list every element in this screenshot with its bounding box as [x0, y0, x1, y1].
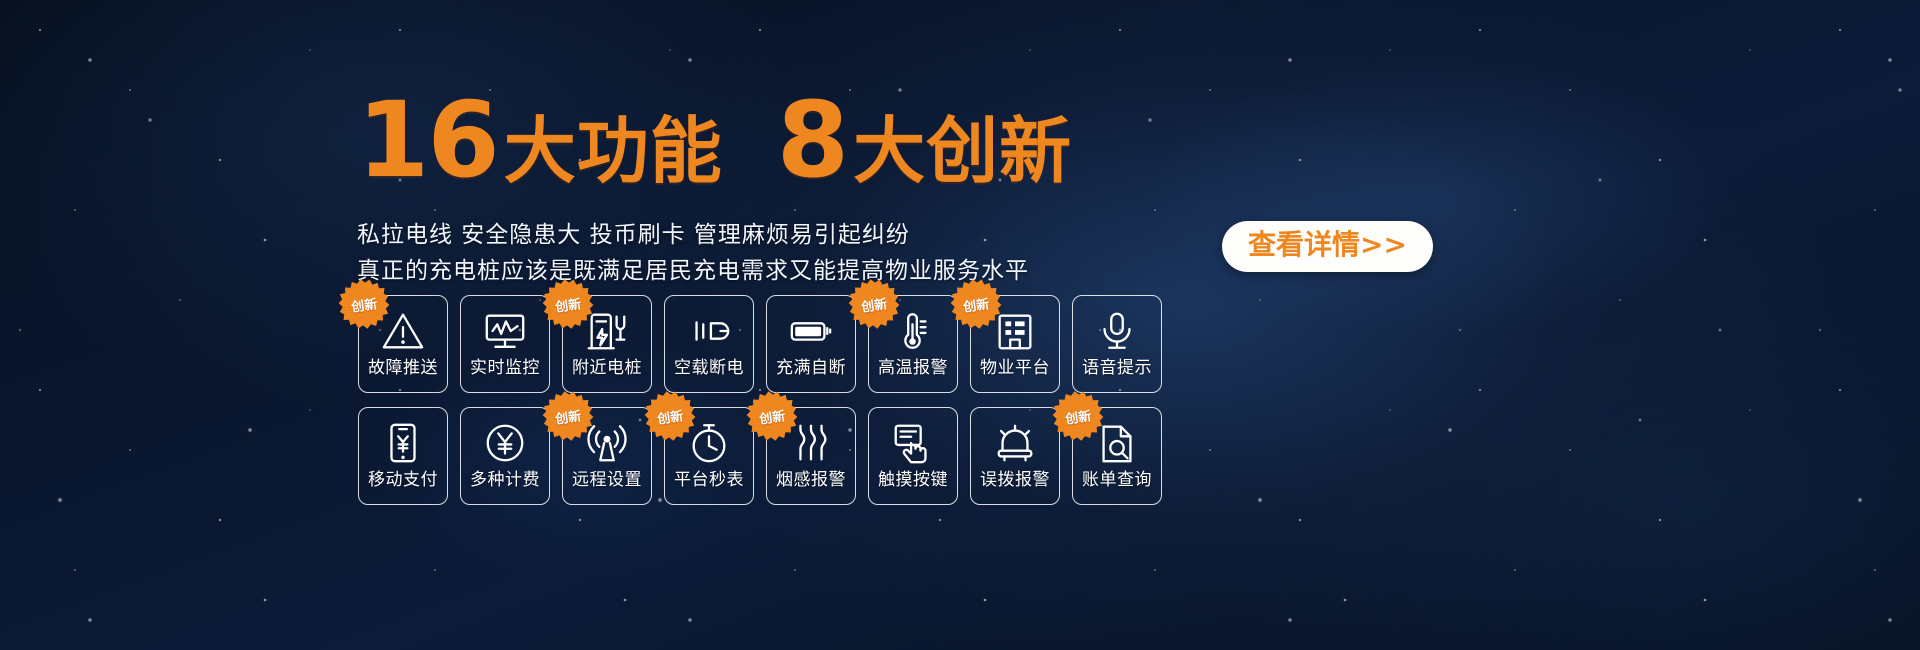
building-icon — [991, 307, 1039, 355]
feature-tile-空载断电[interactable]: 空载断电 — [664, 295, 754, 393]
mobile-payment-icon — [379, 419, 427, 467]
subtitle-line-2: 真正的充电桩应该是既满足居民充电需求又能提高物业服务水平 — [357, 254, 1257, 288]
feature-tile-烟感报警[interactable]: 创新烟感报警 — [766, 407, 856, 505]
hero-text-block: 16 大功能 8 大创新 私拉电线 安全隐患大 投币刷卡 管理麻烦易引起纠纷 真… — [357, 88, 1257, 288]
feature-tile-附近电桩[interactable]: 创新附近电桩 — [562, 295, 652, 393]
battery-full-icon — [787, 307, 835, 355]
promo-banner: 16 大功能 8 大创新 私拉电线 安全隐患大 投币刷卡 管理麻烦易引起纠纷 真… — [0, 0, 1920, 650]
feature-tile-多种计费[interactable]: 多种计费 — [460, 407, 550, 505]
feature-tile-label: 账单查询 — [1082, 471, 1152, 490]
feature-tile-账单查询[interactable]: 创新账单查询 — [1072, 407, 1162, 505]
feature-tile-label: 语音提示 — [1082, 359, 1152, 378]
microphone-icon — [1093, 307, 1141, 355]
headline-number-8: 8 — [777, 88, 847, 192]
touch-hand-icon — [889, 419, 937, 467]
thermometer-icon — [889, 307, 937, 355]
bill-search-icon — [1093, 419, 1141, 467]
feature-tile-label: 触摸按键 — [878, 471, 948, 490]
feature-grid: 创新故障推送实时监控创新附近电桩空载断电充满自断创新高温报警创新物业平台语音提示… — [358, 295, 1162, 505]
feature-tile-语音提示[interactable]: 语音提示 — [1072, 295, 1162, 393]
feature-tile-远程设置[interactable]: 创新远程设置 — [562, 407, 652, 505]
feature-tile-label: 空载断电 — [674, 359, 744, 378]
feature-tile-触摸按键[interactable]: 触摸按键 — [868, 407, 958, 505]
feature-row-2: 移动支付多种计费创新远程设置创新平台秒表创新烟感报警触摸按键误拨报警创新账单查询 — [358, 407, 1162, 505]
warning-triangle-icon — [379, 307, 427, 355]
feature-tile-label: 实时监控 — [470, 359, 540, 378]
plug-power-off-icon — [685, 307, 733, 355]
wireless-signal-icon — [583, 419, 631, 467]
headline-text-functions: 大功能 — [504, 115, 723, 187]
feature-tile-label: 故障推送 — [368, 359, 438, 378]
feature-tile-label: 多种计费 — [470, 471, 540, 490]
feature-tile-实时监控[interactable]: 实时监控 — [460, 295, 550, 393]
monitor-waveform-icon — [481, 307, 529, 355]
headline: 16 大功能 8 大创新 — [357, 88, 1257, 192]
charging-pile-icon — [583, 307, 631, 355]
feature-tile-label: 物业平台 — [980, 359, 1050, 378]
feature-tile-label: 误拨报警 — [980, 471, 1050, 490]
feature-tile-label: 充满自断 — [776, 359, 846, 378]
feature-tile-label: 平台秒表 — [674, 471, 744, 490]
headline-text-innovations: 大创新 — [853, 115, 1072, 187]
feature-tile-label: 烟感报警 — [776, 471, 846, 490]
feature-tile-误拨报警[interactable]: 误拨报警 — [970, 407, 1060, 505]
feature-tile-故障推送[interactable]: 创新故障推送 — [358, 295, 448, 393]
alarm-bell-icon — [991, 419, 1039, 467]
headline-number-16: 16 — [357, 88, 498, 192]
feature-tile-label: 附近电桩 — [572, 359, 642, 378]
view-details-button[interactable]: 查看详情>> — [1222, 221, 1433, 272]
feature-tile-平台秒表[interactable]: 创新平台秒表 — [664, 407, 754, 505]
feature-tile-物业平台[interactable]: 创新物业平台 — [970, 295, 1060, 393]
feature-tile-label: 移动支付 — [368, 471, 438, 490]
stopwatch-icon — [685, 419, 733, 467]
yuan-coin-icon — [481, 419, 529, 467]
feature-tile-label: 高温报警 — [878, 359, 948, 378]
smoke-detector-icon — [787, 419, 835, 467]
subtitle-line-1: 私拉电线 安全隐患大 投币刷卡 管理麻烦易引起纠纷 — [357, 218, 1257, 252]
feature-tile-移动支付[interactable]: 移动支付 — [358, 407, 448, 505]
feature-row-1: 创新故障推送实时监控创新附近电桩空载断电充满自断创新高温报警创新物业平台语音提示 — [358, 295, 1162, 393]
feature-tile-label: 远程设置 — [572, 471, 642, 490]
feature-tile-充满自断[interactable]: 充满自断 — [766, 295, 856, 393]
feature-tile-高温报警[interactable]: 创新高温报警 — [868, 295, 958, 393]
